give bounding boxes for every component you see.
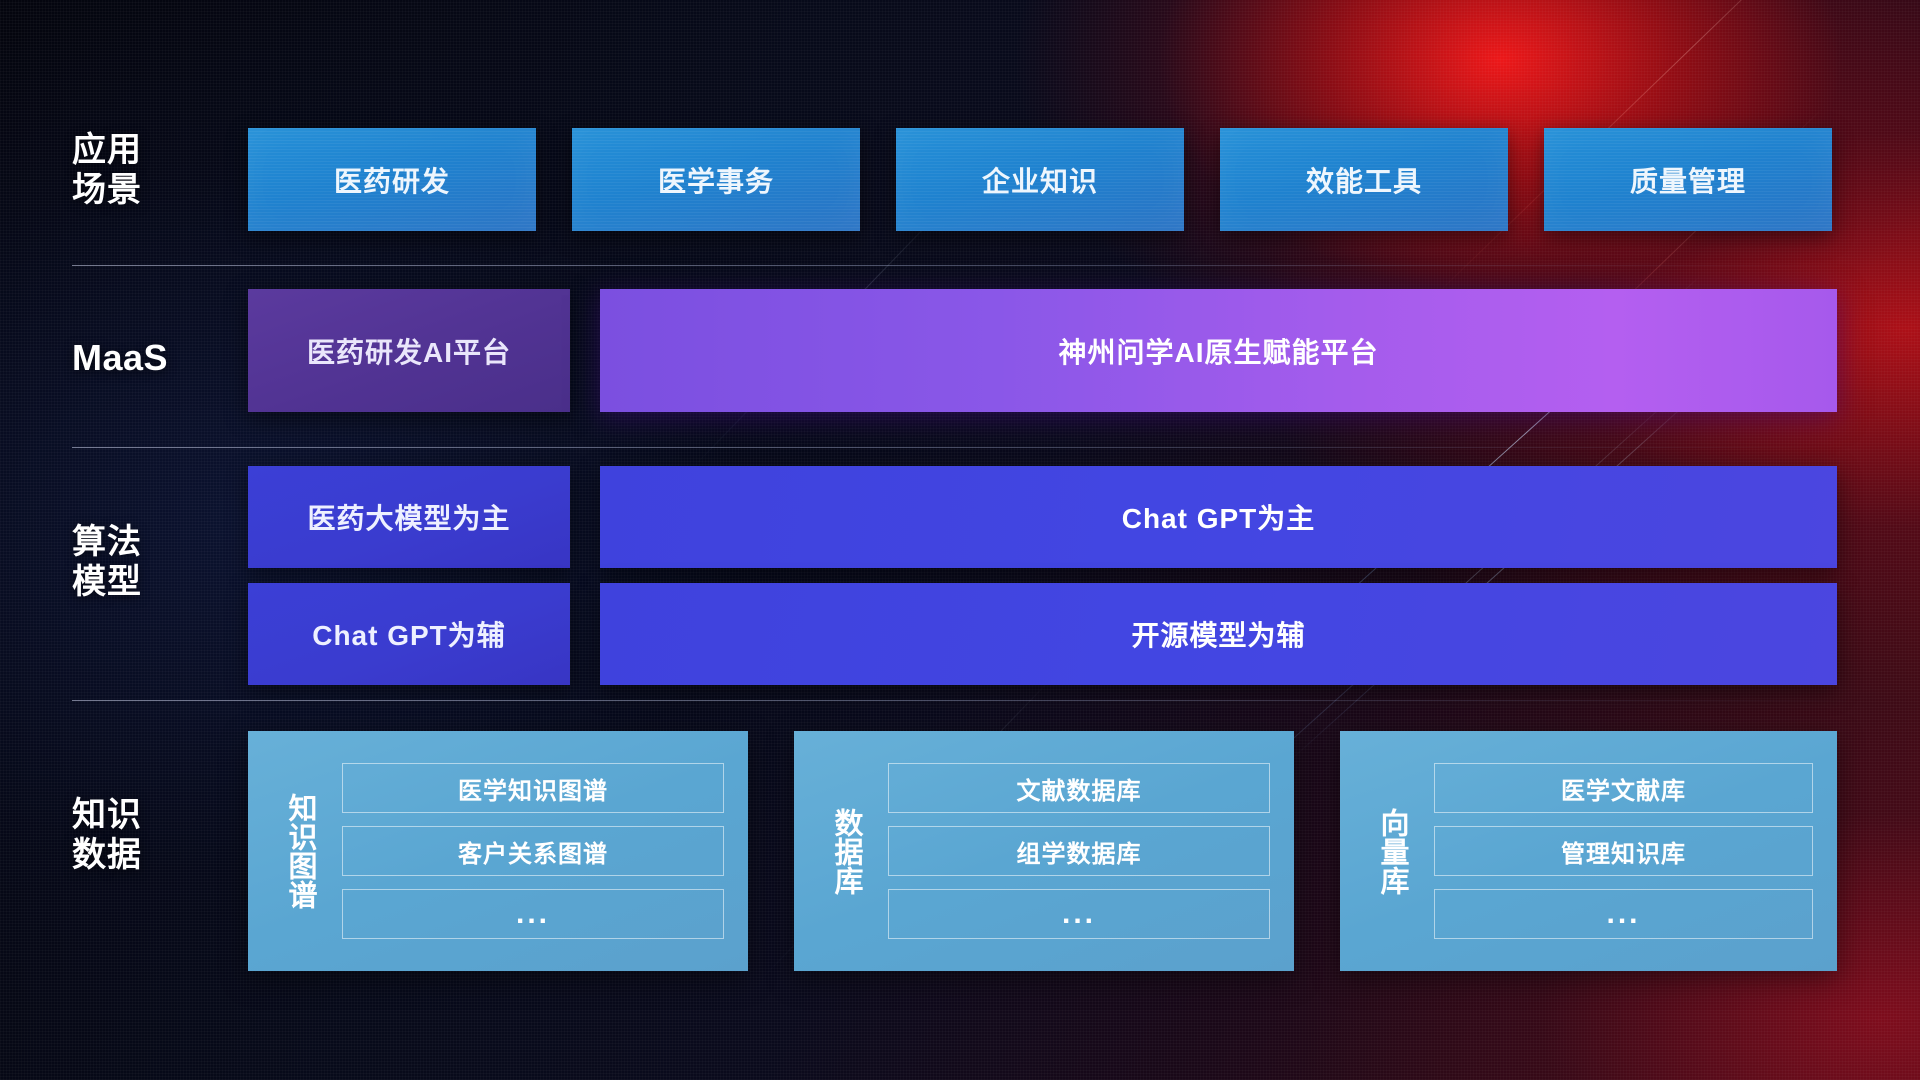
row-label-algorithm-models: 算法 模型 bbox=[72, 522, 200, 602]
algorithm-box-label: Chat GPT为辅 bbox=[312, 614, 506, 654]
maas-box-medicine-ai-platform[interactable]: 医药研发AI平台 bbox=[248, 289, 570, 412]
knowledge-item-more[interactable]: ... bbox=[888, 889, 1270, 939]
knowledge-item[interactable]: 管理知识库 bbox=[1434, 826, 1813, 876]
row-label-line2: 数据 bbox=[72, 835, 200, 875]
knowledge-item-more[interactable]: ... bbox=[342, 889, 724, 939]
maas-box-label: 神州问学AI原生赋能平台 bbox=[1058, 331, 1378, 371]
algorithm-box-chatgpt-secondary[interactable]: Chat GPT为辅 bbox=[248, 583, 570, 685]
maas-box-label: 医药研发AI平台 bbox=[307, 331, 511, 371]
divider-after-algorithm-row bbox=[72, 700, 1860, 701]
knowledge-group-title: 知识图谱 bbox=[260, 756, 338, 946]
application-scenarios-strip: 医药研发 医学事务 企业知识 效能工具 质量管理 bbox=[248, 128, 1832, 231]
maas-box-shenzhou-platform[interactable]: 神州问学AI原生赋能平台 bbox=[600, 289, 1837, 412]
row-label-text: MaaS bbox=[72, 337, 200, 379]
knowledge-item[interactable]: 医学知识图谱 bbox=[342, 763, 724, 813]
knowledge-group-database: 数据库 文献数据库 组学数据库 ... bbox=[794, 731, 1294, 971]
algorithm-box-label: 医药大模型为主 bbox=[307, 497, 510, 537]
knowledge-group-title: 向量库 bbox=[1352, 756, 1430, 946]
knowledge-item-more[interactable]: ... bbox=[1434, 889, 1813, 939]
row-label-maas: MaaS bbox=[72, 337, 200, 379]
app-box-medicine-rd[interactable]: 医药研发 bbox=[248, 128, 536, 231]
knowledge-item[interactable]: 组学数据库 bbox=[888, 826, 1270, 876]
knowledge-group-items: 医学知识图谱 客户关系图谱 ... bbox=[338, 763, 748, 939]
algorithm-box-opensource-secondary[interactable]: 开源模型为辅 bbox=[600, 583, 1837, 685]
app-box-label: 企业知识 bbox=[982, 160, 1098, 200]
slide-canvas: 应用 场景 医药研发 医学事务 企业知识 效能工具 质量管理 MaaS 医药研发… bbox=[0, 0, 1920, 1080]
row-label-line1: 知识 bbox=[72, 795, 200, 835]
algorithm-box-chatgpt-primary[interactable]: Chat GPT为主 bbox=[600, 466, 1837, 568]
app-box-label: 效能工具 bbox=[1306, 160, 1422, 200]
algorithm-box-label: Chat GPT为主 bbox=[1122, 497, 1316, 537]
algorithm-box-medicine-llm-primary[interactable]: 医药大模型为主 bbox=[248, 466, 570, 568]
knowledge-item[interactable]: 文献数据库 bbox=[888, 763, 1270, 813]
app-box-label: 医药研发 bbox=[334, 160, 450, 200]
knowledge-group-items: 医学文献库 管理知识库 ... bbox=[1430, 763, 1837, 939]
row-label-line2: 模型 bbox=[72, 562, 200, 602]
row-label-application-scenarios: 应用 场景 bbox=[72, 130, 200, 210]
app-box-label: 医学事务 bbox=[658, 160, 774, 200]
knowledge-group-items: 文献数据库 组学数据库 ... bbox=[884, 763, 1294, 939]
knowledge-group-vector: 向量库 医学文献库 管理知识库 ... bbox=[1340, 731, 1837, 971]
divider-after-maas-row bbox=[72, 447, 1860, 448]
app-box-quality-management[interactable]: 质量管理 bbox=[1544, 128, 1832, 231]
app-box-enterprise-knowledge[interactable]: 企业知识 bbox=[896, 128, 1184, 231]
row-label-line2: 场景 bbox=[72, 170, 200, 210]
knowledge-group-title: 数据库 bbox=[806, 756, 884, 946]
divider-after-application-row bbox=[72, 265, 1860, 266]
knowledge-group-graph: 知识图谱 医学知识图谱 客户关系图谱 ... bbox=[248, 731, 748, 971]
app-box-label: 质量管理 bbox=[1630, 160, 1746, 200]
algorithm-box-label: 开源模型为辅 bbox=[1131, 614, 1305, 654]
app-box-efficiency-tools[interactable]: 效能工具 bbox=[1220, 128, 1508, 231]
row-label-knowledge-data: 知识 数据 bbox=[72, 795, 200, 875]
knowledge-item[interactable]: 医学文献库 bbox=[1434, 763, 1813, 813]
app-box-medical-affairs[interactable]: 医学事务 bbox=[572, 128, 860, 231]
row-label-line1: 算法 bbox=[72, 522, 200, 562]
knowledge-item[interactable]: 客户关系图谱 bbox=[342, 826, 724, 876]
row-label-line1: 应用 bbox=[72, 130, 200, 170]
